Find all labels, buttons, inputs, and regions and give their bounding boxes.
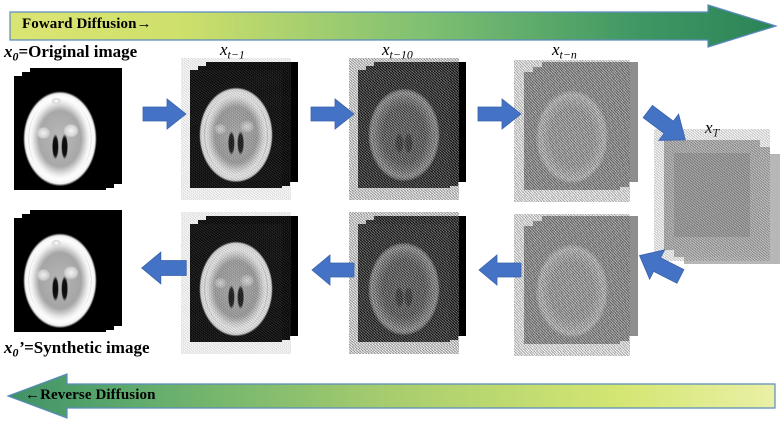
- brain-image-xt-n-bottom: [524, 226, 620, 344]
- label-xT: xT: [705, 118, 719, 140]
- brain-image-xt-1-bottom: [190, 224, 282, 342]
- noise-overlay: [349, 58, 459, 200]
- noise-overlay: [181, 58, 291, 200]
- arrow-xT-to-xtn: [636, 243, 684, 289]
- noise-overlay: [654, 129, 769, 261]
- reverse-banner-label: ←Reverse Diffusion: [25, 387, 156, 404]
- label-xt-n-top: xt−n: [552, 40, 577, 62]
- image-stack-xt-10-top: [358, 62, 470, 190]
- forward-banner-label: Foward Diffusion→: [22, 16, 152, 33]
- image-stack-xt-n-bottom: [524, 216, 642, 344]
- arrow-xtn-to-xt10-reverse: [478, 253, 522, 287]
- image-stack-x0-synthetic: [14, 210, 126, 334]
- noise-image-xT: [664, 140, 760, 250]
- image-stack-xt-1-top: [190, 62, 302, 190]
- reverse-diffusion-banner: ←Reverse Diffusion: [5, 372, 778, 420]
- inner-block-shade: [674, 153, 751, 237]
- image-stack-xt-1-bottom: [190, 216, 302, 344]
- noise-overlay: [514, 214, 629, 356]
- brain-image-xt-10-top: [358, 70, 450, 188]
- image-stack-x0: [14, 68, 126, 190]
- diagram-canvas: Foward Diffusion→ x0=Original image xt−1…: [0, 0, 783, 424]
- brain-image-xt-10-bottom: [358, 224, 450, 342]
- brain-image-xt-n-top: [524, 72, 620, 190]
- arrow-xt1-to-x0-synthetic: [140, 250, 188, 286]
- image-stack-xt-10-bottom: [358, 216, 470, 344]
- label-x0-synthetic: x0’=Synthetic image: [4, 338, 150, 360]
- arrow-xt10-to-xtn: [478, 97, 522, 131]
- label-x0-original: x0=Original image: [4, 42, 137, 64]
- label-xt-10-top: xt−10: [382, 40, 413, 62]
- noise-overlay: [181, 212, 291, 354]
- brain-image-x0: [14, 76, 106, 190]
- arrow-xtn-to-xT: [643, 104, 691, 148]
- brain-image-x0-synthetic: [14, 218, 106, 332]
- noise-overlay: [349, 212, 459, 354]
- arrow-xt10-to-xt1-reverse: [311, 253, 355, 287]
- arrow-xt1-to-xt10: [311, 97, 355, 131]
- arrow-x0-to-xt1: [143, 97, 187, 131]
- noise-overlay: [514, 60, 629, 202]
- label-xt-1-top: xt−1: [220, 40, 245, 62]
- image-stack-xt-n-top: [524, 62, 642, 190]
- brain-image-xt-1-top: [190, 70, 282, 188]
